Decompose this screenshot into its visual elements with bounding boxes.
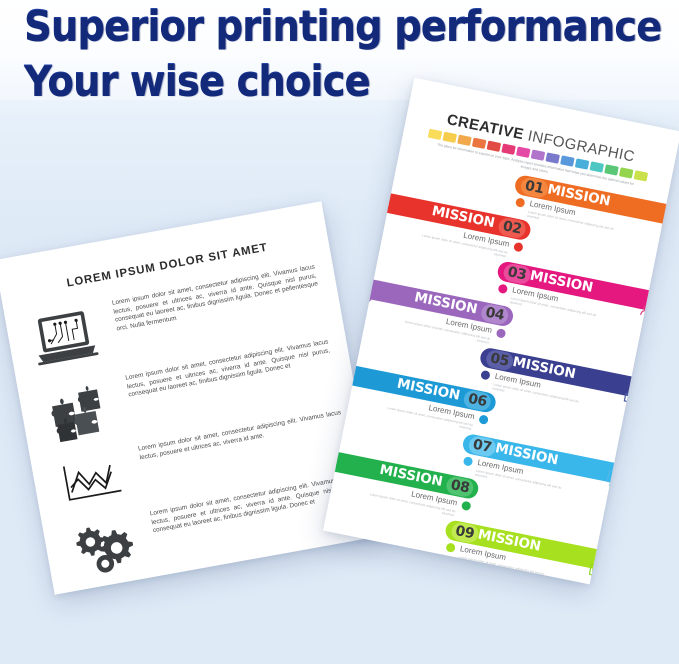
mission-number: 02 bbox=[497, 217, 527, 240]
color-swatch bbox=[457, 135, 472, 146]
color-swatch bbox=[516, 146, 531, 157]
left-document-sheet[interactable]: LOREM IPSUM DOLOR SIT AMET bbox=[0, 201, 381, 594]
color-swatch bbox=[427, 129, 442, 140]
mission-dot bbox=[498, 284, 509, 295]
mission-number: 06 bbox=[463, 389, 493, 412]
color-swatch bbox=[545, 152, 560, 163]
mission-dot bbox=[445, 543, 456, 554]
mission-number: 08 bbox=[445, 476, 475, 499]
color-swatch bbox=[501, 143, 516, 154]
color-swatch bbox=[618, 167, 633, 178]
color-swatch bbox=[574, 158, 589, 169]
mission-dot bbox=[461, 501, 472, 512]
mission-number: 03 bbox=[502, 263, 532, 286]
mission-number: 07 bbox=[467, 435, 497, 458]
color-swatch bbox=[633, 170, 648, 181]
mission-number: 09 bbox=[450, 521, 480, 544]
headline-band bbox=[0, 0, 679, 100]
color-swatch bbox=[589, 161, 604, 172]
color-swatch bbox=[604, 164, 619, 175]
mission-dot bbox=[463, 456, 474, 467]
color-swatch bbox=[486, 140, 501, 151]
puzzle-pieces-icon bbox=[36, 375, 124, 450]
mission-number: 05 bbox=[485, 349, 515, 372]
mission-dot bbox=[480, 370, 491, 381]
color-swatch bbox=[530, 149, 545, 160]
color-swatch bbox=[442, 132, 457, 143]
mission-dot bbox=[513, 242, 524, 253]
mission-dot bbox=[478, 414, 489, 425]
color-swatch bbox=[560, 155, 575, 166]
mission-dot bbox=[496, 328, 507, 339]
line-chart-icon bbox=[49, 448, 135, 513]
gears-icon bbox=[60, 511, 147, 582]
laptop-circuit-icon bbox=[23, 300, 111, 377]
mission-number: 01 bbox=[519, 176, 549, 199]
color-swatch bbox=[471, 137, 486, 148]
mission-number: 04 bbox=[480, 303, 510, 326]
mission-dot bbox=[515, 197, 526, 208]
